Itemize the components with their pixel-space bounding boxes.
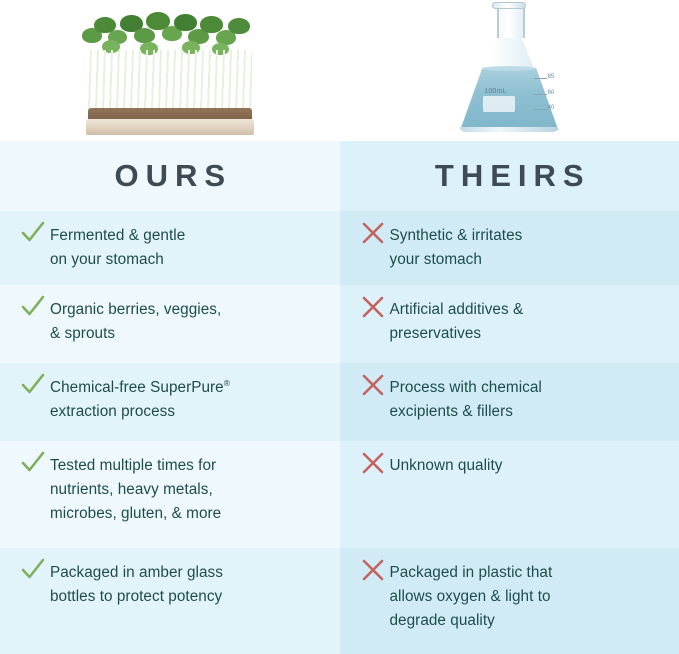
row-text: Packaged in plastic that allows oxygen &… — [390, 548, 553, 633]
check-icon — [16, 441, 50, 475]
hero-image-band: 100mL 85 60 40 — [0, 0, 679, 141]
column-ours: OURS Fermented & gentle on your stomach … — [0, 141, 340, 654]
check-icon — [16, 548, 50, 582]
table-row: Unknown quality — [340, 441, 679, 548]
flask-photo: 100mL 85 60 40 — [453, 2, 565, 136]
flask-label-patch — [483, 96, 515, 112]
cross-icon — [356, 211, 390, 245]
cross-icon — [356, 441, 390, 475]
cross-icon — [356, 285, 390, 319]
row-text: Chemical-free SuperPure® extraction proc… — [50, 363, 230, 424]
check-icon — [16, 363, 50, 397]
hero-cell-ours — [0, 0, 340, 141]
sprouts-photo — [72, 4, 268, 136]
table-row: Packaged in plastic that allows oxygen &… — [340, 548, 679, 654]
table-row: Chemical-free SuperPure® extraction proc… — [0, 363, 340, 441]
row-text: Process with chemical excipients & fille… — [390, 363, 542, 424]
flask-liquid-surface — [482, 66, 536, 71]
column-theirs: THEIRS Synthetic & irritates your stomac… — [340, 141, 679, 654]
column-header-theirs: THEIRS — [340, 141, 679, 211]
flask-volume-label: 100mL — [484, 88, 506, 95]
table-row: Synthetic & irritates your stomach — [340, 211, 679, 285]
flask-base — [460, 127, 558, 132]
comparison-table: OURS Fermented & gentle on your stomach … — [0, 141, 679, 654]
cross-icon — [356, 363, 390, 397]
row-text: Synthetic & irritates your stomach — [390, 211, 523, 272]
row-text: Unknown quality — [390, 441, 503, 478]
table-row: Fermented & gentle on your stomach — [0, 211, 340, 285]
table-row: Organic berries, veggies, & sprouts — [0, 285, 340, 363]
row-text: Tested multiple times for nutrients, hea… — [50, 441, 221, 526]
table-row: Artificial additives & preservatives — [340, 285, 679, 363]
row-text: Packaged in amber glass bottles to prote… — [50, 548, 223, 609]
row-text: Organic berries, veggies, & sprouts — [50, 285, 221, 346]
sprouts-stems — [88, 50, 252, 112]
row-text: Artificial additives & preservatives — [390, 285, 524, 346]
sprouts-tray — [86, 119, 254, 135]
flask-tick-60: 60 — [548, 90, 555, 96]
flask-lip — [492, 2, 526, 9]
flask-tick-85: 85 — [548, 74, 555, 80]
table-row: Tested multiple times for nutrients, hea… — [0, 441, 340, 548]
table-row: Process with chemical excipients & fille… — [340, 363, 679, 441]
table-row: Packaged in amber glass bottles to prote… — [0, 548, 340, 654]
superpure-trademark-line: Chemical-free SuperPure® — [50, 379, 230, 396]
check-icon — [16, 211, 50, 245]
row-text: Fermented & gentle on your stomach — [50, 211, 185, 272]
cross-icon — [356, 548, 390, 582]
flask-tick-40: 40 — [548, 105, 555, 111]
check-icon — [16, 285, 50, 319]
hero-cell-theirs: 100mL 85 60 40 — [340, 0, 679, 141]
flask-neck — [497, 4, 525, 38]
column-header-ours: OURS — [0, 141, 340, 211]
